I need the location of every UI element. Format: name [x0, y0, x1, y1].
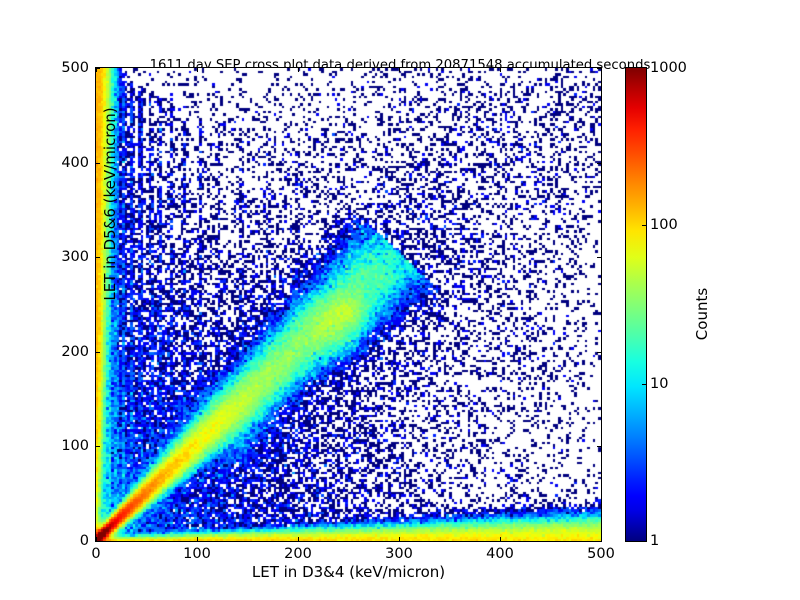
colorbar-tick-label: 10 [650, 376, 668, 392]
y-tick-mark-right [597, 352, 601, 353]
density-scatter-plot [96, 68, 601, 541]
y-tick-mark [96, 163, 100, 164]
x-tick-mark-top [298, 68, 299, 72]
colorbar-tick-mark [642, 384, 646, 385]
colorbar-tick-label: 100 [650, 217, 678, 233]
colorbar-tick-mark [642, 225, 646, 226]
x-tick-mark [500, 537, 501, 541]
y-tick-mark [96, 352, 100, 353]
y-tick-mark [96, 446, 100, 447]
x-tick-mark [399, 537, 400, 541]
y-tick-label: 0 [41, 533, 89, 549]
x-tick-mark [601, 537, 602, 541]
x-tick-label: 500 [587, 546, 615, 562]
y-axis-label: LET in D5&6 (keV/micron) [101, 0, 119, 414]
x-tick-mark-top [197, 68, 198, 72]
x-tick-mark-top [399, 68, 400, 72]
x-tick-label: 200 [284, 546, 312, 562]
y-tick-mark-right [597, 541, 601, 542]
colorbar-tick-label: 1000 [650, 60, 687, 76]
y-tick-mark-right [597, 257, 601, 258]
colorbar-gradient [625, 67, 647, 542]
x-axis-label: LET in D3&4 (keV/micron) [95, 563, 602, 581]
x-tick-mark [298, 537, 299, 541]
y-tick-label: 400 [41, 155, 89, 171]
x-tick-label: 0 [91, 546, 100, 562]
x-tick-mark [197, 537, 198, 541]
y-tick-mark-right [597, 163, 601, 164]
colorbar [625, 67, 647, 542]
y-tick-mark [96, 541, 100, 542]
x-tick-label: 300 [385, 546, 413, 562]
plot-area [95, 67, 602, 542]
y-tick-label: 200 [41, 344, 89, 360]
y-tick-mark [96, 257, 100, 258]
y-tick-label: 100 [41, 438, 89, 454]
y-tick-label: 500 [41, 60, 89, 76]
x-tick-mark-top [500, 68, 501, 72]
colorbar-tick-label: 1 [650, 533, 659, 549]
y-tick-mark-right [597, 68, 601, 69]
x-tick-label: 400 [486, 546, 514, 562]
x-tick-mark-top [601, 68, 602, 72]
y-tick-mark-right [597, 446, 601, 447]
x-tick-label: 100 [183, 546, 211, 562]
y-tick-mark [96, 68, 100, 69]
figure-canvas: 1611 day SEP cross plot data derived fro… [0, 0, 800, 600]
y-tick-label: 300 [41, 249, 89, 265]
colorbar-label: Counts [693, 224, 711, 404]
